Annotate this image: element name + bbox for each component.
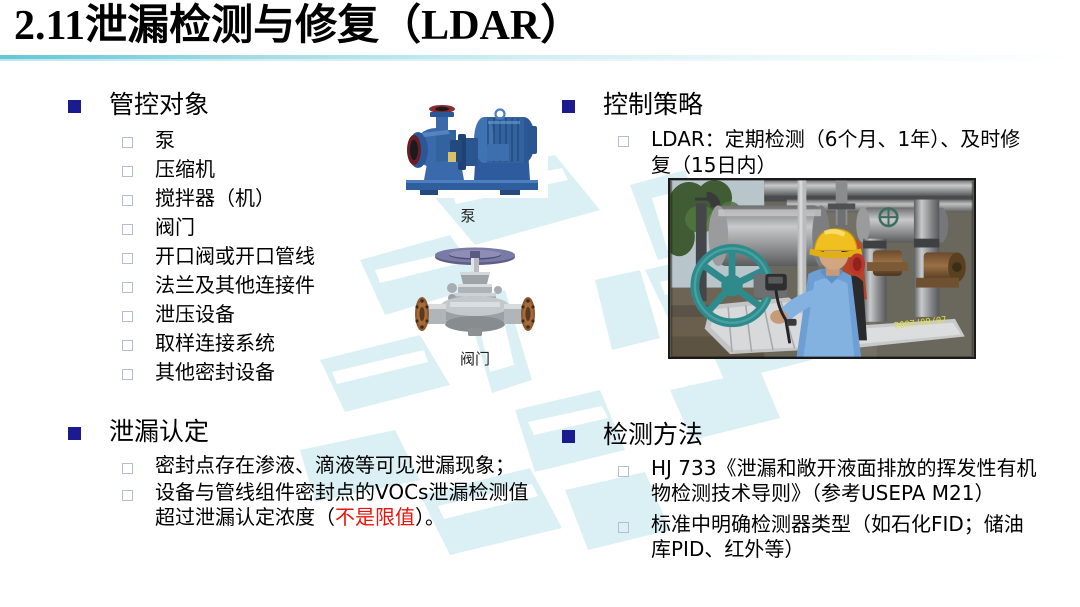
list-item-label: 其他密封设备: [155, 359, 275, 386]
field-photo-image: 2007/09/07: [670, 180, 974, 357]
hollow-square-bullet-icon: [122, 137, 133, 148]
hollow-square-bullet-icon: [618, 136, 629, 147]
hollow-square-bullet-icon: [122, 195, 133, 206]
list-item: 密封点存在渗液、滴液等可见泄漏现象；: [122, 453, 538, 478]
square-bullet-icon: [562, 100, 575, 113]
square-bullet-icon: [68, 427, 81, 440]
list-item-label: 搅拌器（机）: [155, 185, 275, 212]
hollow-square-bullet-icon: [122, 463, 133, 474]
list-item-label: 取样连接系统: [155, 330, 275, 357]
hollow-square-bullet-icon: [618, 522, 629, 533]
list-item: 法兰及其他连接件: [122, 272, 398, 299]
list-item: HJ 733《泄漏和敞开液面排放的挥发性有机物检测技术导则》（参考USEPA M…: [618, 456, 1042, 506]
list-item-label: 密封点存在渗液、滴液等可见泄漏现象；: [155, 453, 535, 478]
list-item: 压缩机: [122, 156, 398, 183]
section-leak-definition: 泄漏认定 密封点存在渗液、滴液等可见泄漏现象； 设备与管线组件密封点的VOCs泄…: [68, 415, 538, 532]
section-heading-row: 管控对象: [68, 88, 398, 122]
slide-canvas: 2.11泄漏检测与修复（LDAR） 管控对象 泵 压缩机 搅拌器（机）: [0, 0, 1080, 607]
section-detection-method: 检测方法 HJ 733《泄漏和敞开液面排放的挥发性有机物检测技术导则》（参考US…: [562, 418, 1042, 568]
figure-valve: 阀门: [400, 236, 550, 366]
section-control-strategy: 控制策略 LDAR：定期检测（6个月、1年）、及时修复（15日内）: [562, 88, 1032, 178]
field-inspection-photo: 2007/09/07: [668, 178, 976, 359]
hollow-square-bullet-icon: [122, 282, 133, 293]
title-block: 2.11泄漏检测与修复（LDAR）: [0, 0, 1080, 62]
section-heading-detection-method: 检测方法: [603, 418, 703, 452]
hollow-square-bullet-icon: [122, 340, 133, 351]
section-heading-row: 检测方法: [562, 418, 1042, 452]
list-item: 阀门: [122, 214, 398, 241]
figure-caption-pump: 泵: [388, 205, 548, 226]
figure-pump: 泵: [388, 100, 548, 225]
leak-definition-list: 密封点存在渗液、滴液等可见泄漏现象； 设备与管线组件密封点的VOCs泄漏检测值超…: [122, 453, 538, 530]
hollow-square-bullet-icon: [122, 311, 133, 322]
control-objects-list: 泵 压缩机 搅拌器（机） 阀门 开口阀或开口管线 法兰及其他连接件: [122, 127, 398, 386]
pump-image: [388, 100, 548, 198]
leak-text-post: ）。: [415, 505, 445, 529]
page-title: 2.11泄漏检测与修复（LDAR）: [14, 0, 582, 54]
section-heading-leak-definition: 泄漏认定: [109, 415, 209, 449]
section-heading-control-strategy: 控制策略: [603, 88, 703, 122]
hollow-square-bullet-icon: [122, 369, 133, 380]
list-item-label: 标准中明确检测器类型（如石化FID；储油库PID、红外等）: [651, 512, 1042, 562]
list-item-label: 泄压设备: [155, 301, 235, 328]
section-control-objects: 管控对象 泵 压缩机 搅拌器（机） 阀门 开口阀或开口管线: [68, 88, 398, 388]
figure-caption-valve: 阀门: [400, 348, 550, 369]
list-item: 取样连接系统: [122, 330, 398, 357]
list-item-label: 法兰及其他连接件: [155, 272, 315, 299]
list-item: 标准中明确检测器类型（如石化FID；储油库PID、红外等）: [618, 512, 1042, 562]
section-heading-control-objects: 管控对象: [109, 88, 209, 122]
hollow-square-bullet-icon: [618, 466, 629, 477]
list-item: 搅拌器（机）: [122, 185, 398, 212]
title-underline-rule-secondary: [0, 59, 1080, 61]
list-item-label: 泵: [155, 127, 175, 154]
list-item: 设备与管线组件密封点的VOCs泄漏检测值超过泄漏认定浓度（不是限值）。: [122, 480, 538, 530]
list-item-label: 阀门: [155, 214, 195, 241]
list-item: 泵: [122, 127, 398, 154]
hollow-square-bullet-icon: [122, 224, 133, 235]
list-item-label: 设备与管线组件密封点的VOCs泄漏检测值超过泄漏认定浓度（不是限值）。: [155, 480, 535, 530]
list-item: 泄压设备: [122, 301, 398, 328]
section-heading-row: 控制策略: [562, 88, 1032, 122]
list-item: LDAR：定期检测（6个月、1年）、及时修复（15日内）: [618, 126, 1032, 178]
hollow-square-bullet-icon: [122, 490, 133, 501]
leak-text-highlight: 不是限值: [335, 505, 415, 529]
section-heading-row: 泄漏认定: [68, 415, 538, 449]
list-item-label: LDAR：定期检测（6个月、1年）、及时修复（15日内）: [651, 126, 1032, 178]
square-bullet-icon: [562, 430, 575, 443]
list-item-label: 开口阀或开口管线: [155, 243, 315, 270]
list-item-label: HJ 733《泄漏和敞开液面排放的挥发性有机物检测技术导则》（参考USEPA M…: [651, 456, 1042, 506]
square-bullet-icon: [68, 100, 81, 113]
control-strategy-list: LDAR：定期检测（6个月、1年）、及时修复（15日内）: [618, 126, 1032, 178]
list-item: 开口阀或开口管线: [122, 243, 398, 270]
detection-method-list: HJ 733《泄漏和敞开液面排放的挥发性有机物检测技术导则》（参考USEPA M…: [618, 456, 1042, 562]
list-item: 其他密封设备: [122, 359, 398, 386]
hollow-square-bullet-icon: [122, 166, 133, 177]
valve-image: [400, 236, 550, 341]
list-item-label: 压缩机: [155, 156, 215, 183]
hollow-square-bullet-icon: [122, 253, 133, 264]
